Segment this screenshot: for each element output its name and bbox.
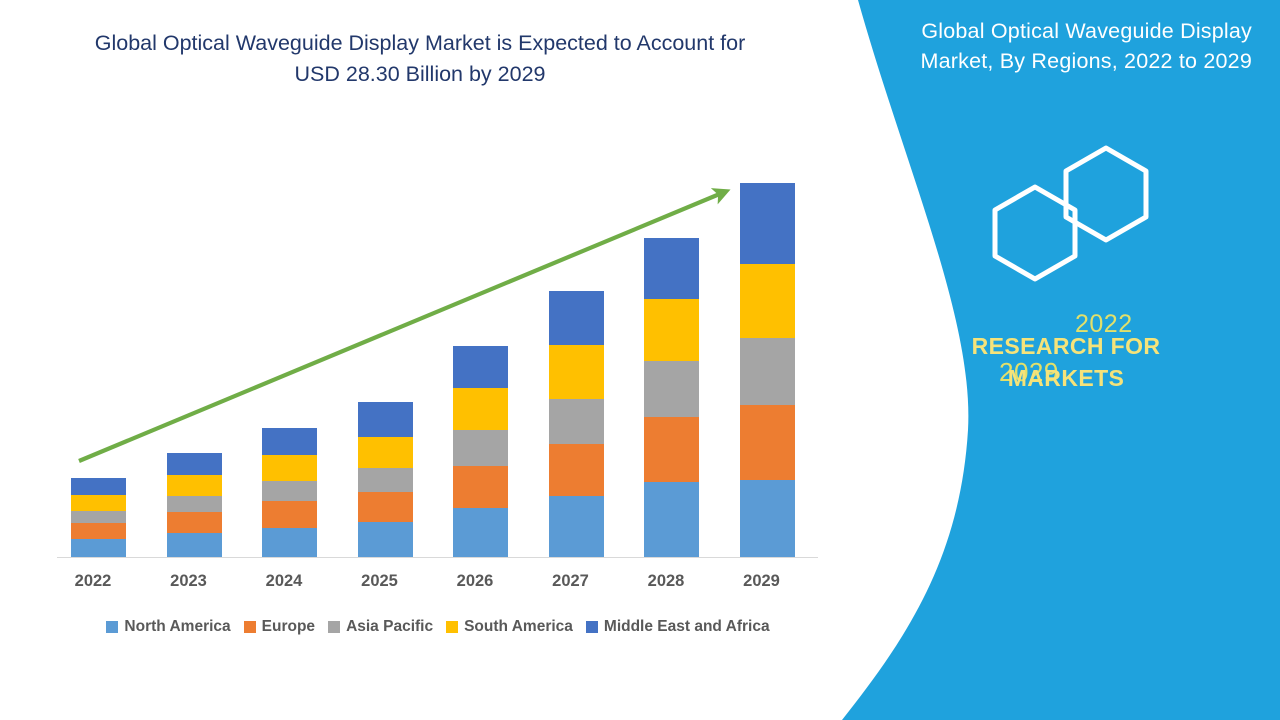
x-axis-label-2024: 2024 <box>236 572 332 591</box>
bar-segment <box>644 482 699 558</box>
bar-segment <box>167 533 222 558</box>
legend-label: North America <box>124 618 230 636</box>
legend-item-middle-east-and-africa[interactable]: Middle East and Africa <box>586 618 770 636</box>
bar-segment <box>358 468 413 492</box>
legend-swatch-icon <box>328 621 340 633</box>
legend-item-asia-pacific[interactable]: Asia Pacific <box>328 618 433 636</box>
bar-segment <box>71 523 126 539</box>
bar-segment <box>358 522 413 558</box>
bar-segment <box>644 238 699 299</box>
bar-segment <box>453 346 508 388</box>
bar-segment <box>167 475 222 496</box>
bar-segment <box>167 496 222 512</box>
bar-segment <box>740 183 795 264</box>
bar-segment <box>167 512 222 533</box>
bar-segment <box>453 430 508 466</box>
bar-segment <box>71 495 126 511</box>
legend-swatch-icon <box>446 621 458 633</box>
hexagon-outlines <box>980 142 1180 282</box>
legend-label: South America <box>464 618 573 636</box>
legend-label: Asia Pacific <box>346 618 433 636</box>
x-axis-label-2029: 2029 <box>714 572 810 591</box>
x-axis-label-2022: 2022 <box>45 572 141 591</box>
brand-line-2: MARKETS <box>880 362 1252 394</box>
bar-2028[interactable] <box>644 238 699 558</box>
bar-segment <box>453 466 508 508</box>
bar-2029[interactable] <box>740 183 795 558</box>
legend-item-europe[interactable]: Europe <box>244 618 315 636</box>
legend-swatch-icon <box>106 621 118 633</box>
x-axis-label-2028: 2028 <box>618 572 714 591</box>
x-axis-label-2026: 2026 <box>427 572 523 591</box>
chart-legend: North AmericaEuropeAsia PacificSouth Ame… <box>57 615 819 639</box>
bar-segment <box>358 492 413 522</box>
bar-segment <box>167 453 222 475</box>
bar-segment <box>549 291 604 345</box>
x-axis-label-2023: 2023 <box>141 572 237 591</box>
bar-2024[interactable] <box>262 428 317 558</box>
bar-segment <box>262 501 317 528</box>
page-title: Global Optical Waveguide Display Market … <box>70 28 770 90</box>
legend-label: Europe <box>262 618 315 636</box>
bar-2027[interactable] <box>549 291 604 558</box>
hexagon-2022-shape <box>1066 148 1146 240</box>
panel-content: Global Optical Waveguide Display Market,… <box>880 0 1280 720</box>
bar-segment <box>71 511 126 523</box>
slide-canvas: Global Optical Waveguide Display Market … <box>0 0 1280 720</box>
bar-segment <box>644 361 699 417</box>
bar-segment <box>262 481 317 501</box>
brand-logo-text: RESEARCH FOR MARKETS <box>880 330 1252 394</box>
x-axis-label-2027: 2027 <box>523 572 619 591</box>
legend-item-south-america[interactable]: South America <box>446 618 573 636</box>
legend-swatch-icon <box>586 621 598 633</box>
bar-segment <box>453 508 508 558</box>
bar-segment <box>358 402 413 437</box>
bar-2022[interactable] <box>71 478 126 558</box>
x-axis-line <box>57 557 818 558</box>
bar-segment <box>71 478 126 495</box>
bar-segment <box>740 480 795 558</box>
bar-segment <box>740 264 795 338</box>
panel-title: Global Optical Waveguide Display Market,… <box>880 16 1252 76</box>
bar-segment <box>740 405 795 480</box>
bar-2023[interactable] <box>167 453 222 558</box>
bar-2026[interactable] <box>453 346 508 558</box>
hexagon-badges: 2022 2029 <box>980 142 1180 282</box>
x-axis-label-2025: 2025 <box>332 572 428 591</box>
bar-segment <box>740 338 795 405</box>
bar-segment <box>644 299 699 361</box>
bar-segment <box>358 437 413 468</box>
legend-label: Middle East and Africa <box>604 618 770 636</box>
bar-segment <box>549 345 604 399</box>
bar-segment <box>549 496 604 558</box>
hexagon-2029-shape <box>995 187 1075 279</box>
x-axis-labels: 20222023202420252026202720282029 <box>57 572 819 600</box>
bar-segment <box>262 455 317 481</box>
bar-segment <box>262 528 317 558</box>
bar-2025[interactable] <box>358 402 413 558</box>
bar-segment <box>453 388 508 430</box>
legend-swatch-icon <box>244 621 256 633</box>
bar-segment <box>71 539 126 558</box>
stacked-bar-chart <box>57 150 819 558</box>
bar-segment <box>549 399 604 444</box>
brand-line-1: RESEARCH FOR <box>880 330 1252 362</box>
legend-item-north-america[interactable]: North America <box>106 618 230 636</box>
bar-segment <box>262 428 317 455</box>
bar-segment <box>644 417 699 482</box>
bar-segment <box>549 444 604 496</box>
